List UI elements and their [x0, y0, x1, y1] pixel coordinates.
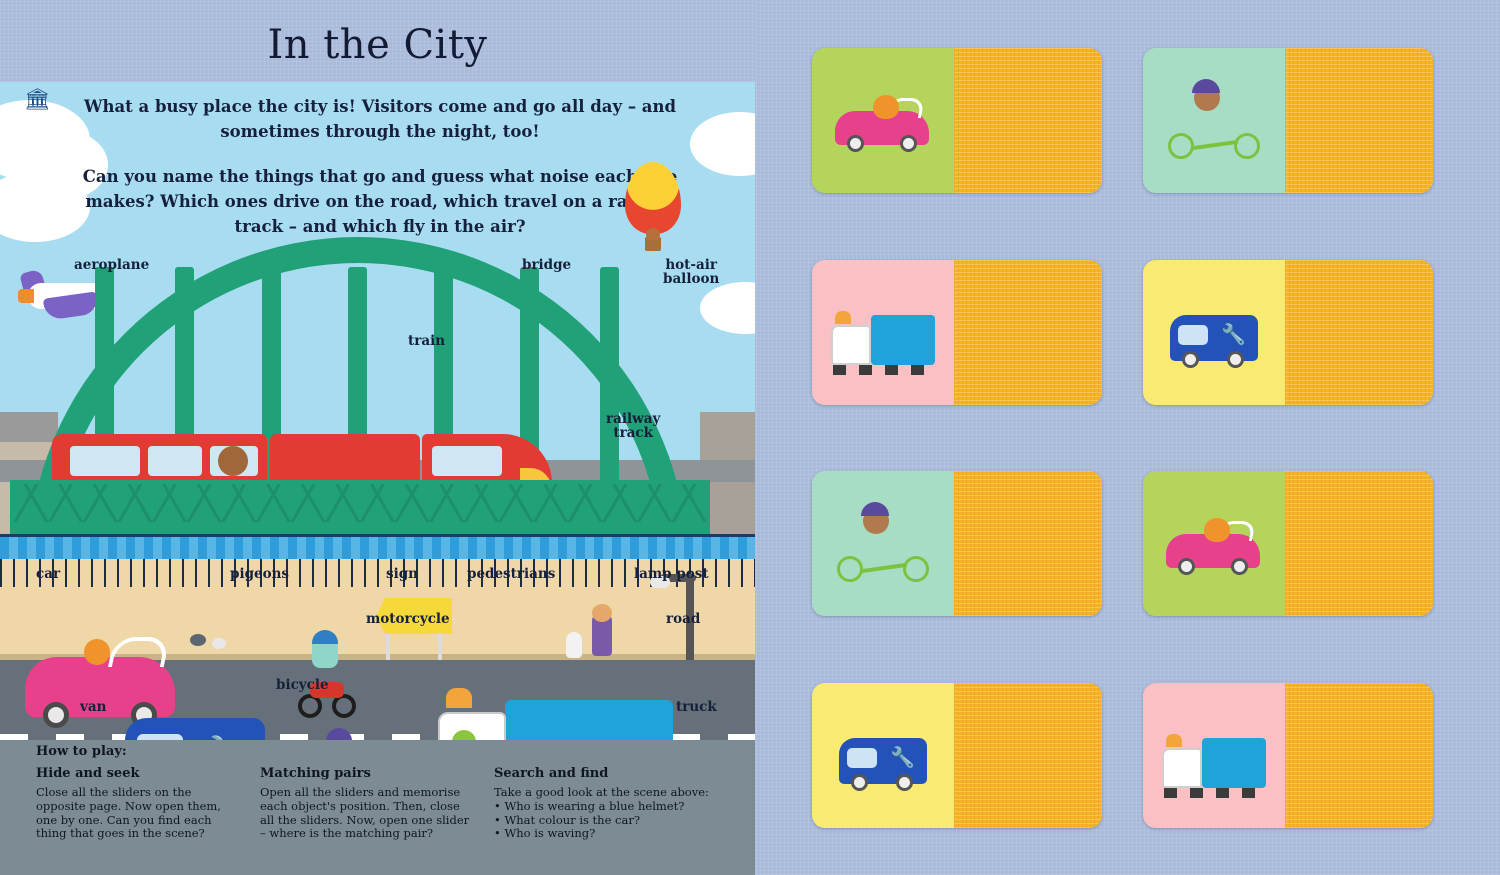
card-picture-bicycle	[1143, 48, 1285, 193]
scene-label-van: van	[80, 700, 106, 714]
bicycle-frame	[1192, 139, 1238, 149]
scene-label-hot-air-balloon: hot-airballoon	[663, 258, 719, 286]
scene-label-aeroplane: aeroplane	[74, 258, 149, 272]
memory-card-2[interactable]	[1143, 48, 1433, 193]
intro-paragraph-1: What a busy place the city is! Visitors …	[60, 94, 700, 144]
bicycle-frame	[861, 562, 907, 572]
card-slider[interactable]	[954, 471, 1102, 616]
card-art-van: 🔧	[829, 716, 937, 796]
column-2-title: Matching pairs	[260, 766, 472, 781]
tiger-driver	[84, 639, 110, 665]
car-wheel	[900, 135, 917, 152]
card-art-car	[1160, 504, 1268, 584]
label-line: aeroplane	[74, 258, 149, 272]
intro-paragraph-2: Can you name the things that go and gues…	[60, 164, 700, 239]
van-wheel	[1182, 351, 1199, 368]
car-wheel	[1178, 558, 1195, 575]
scene-label-car: car	[36, 567, 60, 581]
label-line: sign	[386, 567, 418, 581]
label-line: motorcycle	[366, 612, 450, 626]
how-to-play-heading: How to play:	[36, 744, 127, 759]
scene-label-bridge: bridge	[522, 258, 571, 272]
car-wheel	[847, 135, 864, 152]
bear-passenger	[218, 446, 248, 476]
pedestrian-cat	[566, 632, 582, 658]
city-scene: What a busy place the city is! Visitors …	[0, 82, 755, 740]
van-body: 🔧	[839, 738, 927, 784]
left-page: In the City What a busy place the city i…	[0, 0, 755, 875]
car-wheel	[1231, 558, 1248, 575]
card-slider[interactable]	[1285, 48, 1433, 193]
purple-helmet-icon	[1192, 79, 1220, 93]
column-2-body: Open all the sliders and memorise each o…	[260, 786, 472, 841]
label-line: bridge	[522, 258, 571, 272]
museum-icon: 🏛	[24, 89, 51, 110]
scene-label-railway-track: railwaytrack	[606, 412, 660, 440]
how-to-play-panel: How to play: Hide and seek Close all the…	[0, 740, 755, 875]
card-picture-truck	[812, 260, 954, 405]
truck-cab	[1162, 748, 1202, 788]
label-line: hot-air	[663, 258, 719, 272]
van-wheel	[896, 774, 913, 791]
search-bullet: • What colour is the car?	[494, 814, 724, 828]
van-wheel	[851, 774, 868, 791]
card-slider[interactable]	[1285, 471, 1433, 616]
memory-card-6[interactable]	[1143, 471, 1433, 616]
memory-card-8[interactable]	[1143, 683, 1433, 828]
memory-card-3[interactable]	[812, 260, 1102, 405]
truck-wheels	[1164, 788, 1264, 798]
truck-container	[871, 315, 935, 365]
pigeon-icon	[190, 634, 206, 646]
truck-container	[1202, 738, 1266, 788]
van-body: 🔧	[1170, 315, 1258, 361]
page-title: In the City	[0, 22, 755, 68]
river	[0, 537, 755, 559]
card-picture-truck	[1143, 683, 1285, 828]
label-line: bicycle	[276, 678, 329, 692]
train-window	[432, 446, 502, 476]
bicycle-wheel	[1168, 133, 1194, 159]
truck-container	[505, 700, 673, 740]
truck-horn-icon	[835, 311, 851, 324]
card-picture-car	[812, 48, 954, 193]
label-line: train	[408, 334, 445, 348]
aeroplane-nose	[18, 289, 34, 303]
pigeon-icon	[212, 638, 226, 649]
search-bullet: • Who is waving?	[494, 827, 724, 841]
bicycle-body	[1168, 101, 1260, 159]
scene-intro-text: What a busy place the city is! Visitors …	[60, 94, 700, 259]
card-art-truck	[829, 293, 937, 373]
label-line: van	[80, 700, 106, 714]
memory-card-5[interactable]	[812, 471, 1102, 616]
label-line: lamp post	[634, 567, 709, 581]
card-art-bicycle	[1160, 81, 1268, 161]
tiger-driver-icon	[873, 95, 899, 119]
column-1-title: Hide and seek	[36, 766, 244, 781]
card-slider[interactable]	[954, 48, 1102, 193]
column-3-body: Take a good look at the scene above:	[494, 786, 724, 800]
label-line: railway	[606, 412, 660, 426]
wrench-icon: 🔧	[1221, 325, 1246, 345]
column-3-title: Search and find	[494, 766, 724, 781]
scene-label-pedestrians: pedestrians	[467, 567, 555, 581]
bicycle-wheel	[903, 556, 929, 582]
search-and-find-bullets: • Who is wearing a blue helmet?• What co…	[494, 800, 724, 841]
card-picture-car	[1143, 471, 1285, 616]
bicycle-wheel	[1234, 133, 1260, 159]
train-window	[148, 446, 202, 476]
pedestrian-adult-head	[592, 604, 612, 622]
card-slider[interactable]	[954, 260, 1102, 405]
label-line: pigeons	[230, 567, 289, 581]
label-line: pedestrians	[467, 567, 555, 581]
label-line: road	[666, 612, 700, 626]
card-picture-van: 🔧	[812, 683, 954, 828]
card-art-van: 🔧	[1160, 293, 1268, 373]
card-picture-van: 🔧	[1143, 260, 1285, 405]
memory-card-7[interactable]: 🔧	[812, 683, 1102, 828]
how-to-play-column-3: Search and find Take a good look at the …	[494, 766, 724, 841]
scene-label-motorcycle: motorcycle	[366, 612, 450, 626]
truck-horn-icon	[446, 688, 472, 708]
column-1-body: Close all the sliders on the opposite pa…	[36, 786, 244, 841]
card-art-truck	[1160, 716, 1268, 796]
scene-label-train: train	[408, 334, 445, 348]
bicycle-wheel	[837, 556, 863, 582]
card-art-bicycle	[829, 504, 937, 584]
balloon-passenger	[646, 228, 660, 241]
how-to-play-column-2: Matching pairs Open all the sliders and …	[260, 766, 472, 841]
truck-wheels	[833, 365, 933, 375]
card-slider[interactable]	[1285, 683, 1433, 828]
label-line: balloon	[663, 272, 719, 286]
purple-helmet-icon	[861, 502, 889, 516]
search-bullet: • Who is wearing a blue helmet?	[494, 800, 724, 814]
van-window	[847, 748, 877, 768]
truck-cab	[831, 325, 871, 365]
scene-label-bicycle: bicycle	[276, 678, 329, 692]
label-line: track	[606, 426, 660, 440]
label-line: car	[36, 567, 60, 581]
memory-card-1[interactable]	[812, 48, 1102, 193]
how-to-play-column-1: Hide and seek Close all the sliders on t…	[36, 766, 244, 841]
right-page-cards: 🔧🔧	[755, 0, 1500, 875]
train-window	[70, 446, 140, 476]
van-wheel	[1227, 351, 1244, 368]
van-window	[1178, 325, 1208, 345]
card-slider[interactable]	[954, 683, 1102, 828]
scene-label-sign: sign	[386, 567, 418, 581]
scene-label-pigeons: pigeons	[230, 567, 289, 581]
label-line: truck	[676, 700, 717, 714]
book-spread: In the City What a busy place the city i…	[0, 0, 1500, 875]
scene-label-road: road	[666, 612, 700, 626]
card-slider[interactable]	[1285, 260, 1433, 405]
bicycle-body	[837, 524, 929, 582]
scene-label-lamp-post: lamp post	[634, 567, 709, 581]
card-art-car	[829, 81, 937, 161]
wrench-icon: 🔧	[890, 748, 915, 768]
scene-label-truck: truck	[676, 700, 717, 714]
tiger-driver-icon	[1204, 518, 1230, 542]
truck-horn-icon	[1166, 734, 1182, 747]
card-picture-bicycle	[812, 471, 954, 616]
memory-card-4[interactable]: 🔧	[1143, 260, 1433, 405]
van-icon: 🔧	[125, 718, 265, 740]
car-wheel	[43, 702, 69, 728]
